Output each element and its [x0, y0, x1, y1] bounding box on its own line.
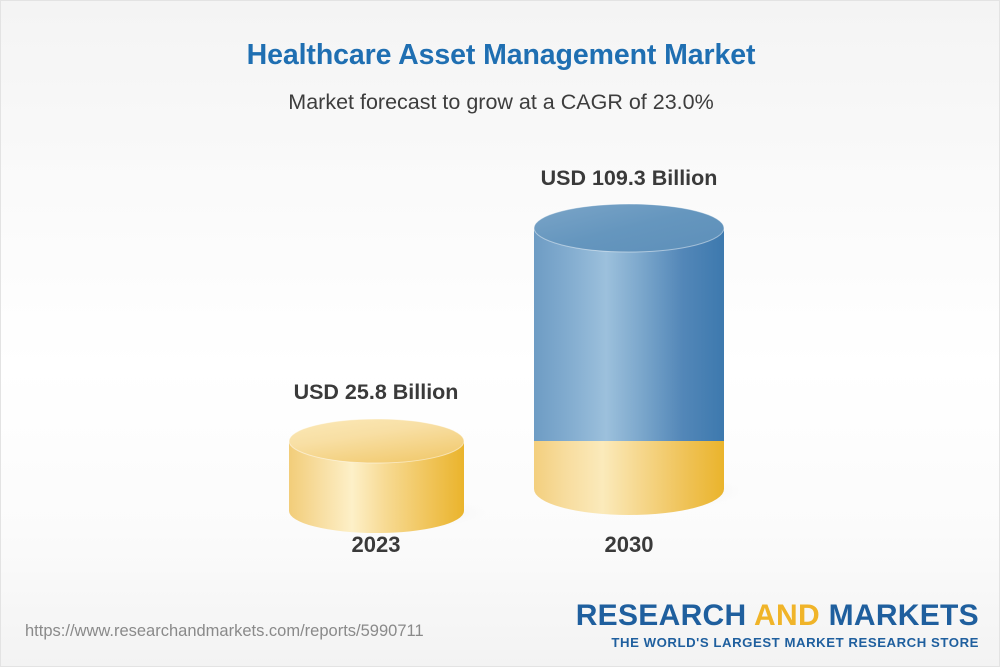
bar-cylinder-2023 — [281, 415, 491, 535]
chart-title: Healthcare Asset Management Market — [1, 39, 1000, 72]
source-url[interactable]: https://www.researchandmarkets.com/repor… — [25, 622, 424, 641]
bar-cylinder-2030 — [526, 199, 756, 539]
logo-wordmark: RESEARCH AND MARKETS — [576, 601, 979, 631]
logo-markets-text: MARKETS — [829, 599, 979, 632]
research-and-markets-logo: RESEARCH AND MARKETS THE WORLD'S LARGEST… — [576, 601, 979, 649]
logo-tagline: THE WORLD'S LARGEST MARKET RESEARCH STOR… — [576, 636, 979, 649]
chart-subtitle: Market forecast to grow at a CAGR of 23.… — [1, 90, 1000, 115]
category-label-2030: 2030 — [429, 532, 829, 558]
chart-canvas: Healthcare Asset Management Market Marke… — [0, 0, 1000, 667]
logo-research-text: RESEARCH — [576, 599, 747, 632]
value-label-2030: USD 109.3 Billion — [429, 166, 829, 191]
logo-and-text: AND — [754, 599, 820, 632]
value-label-2023: USD 25.8 Billion — [176, 380, 576, 405]
